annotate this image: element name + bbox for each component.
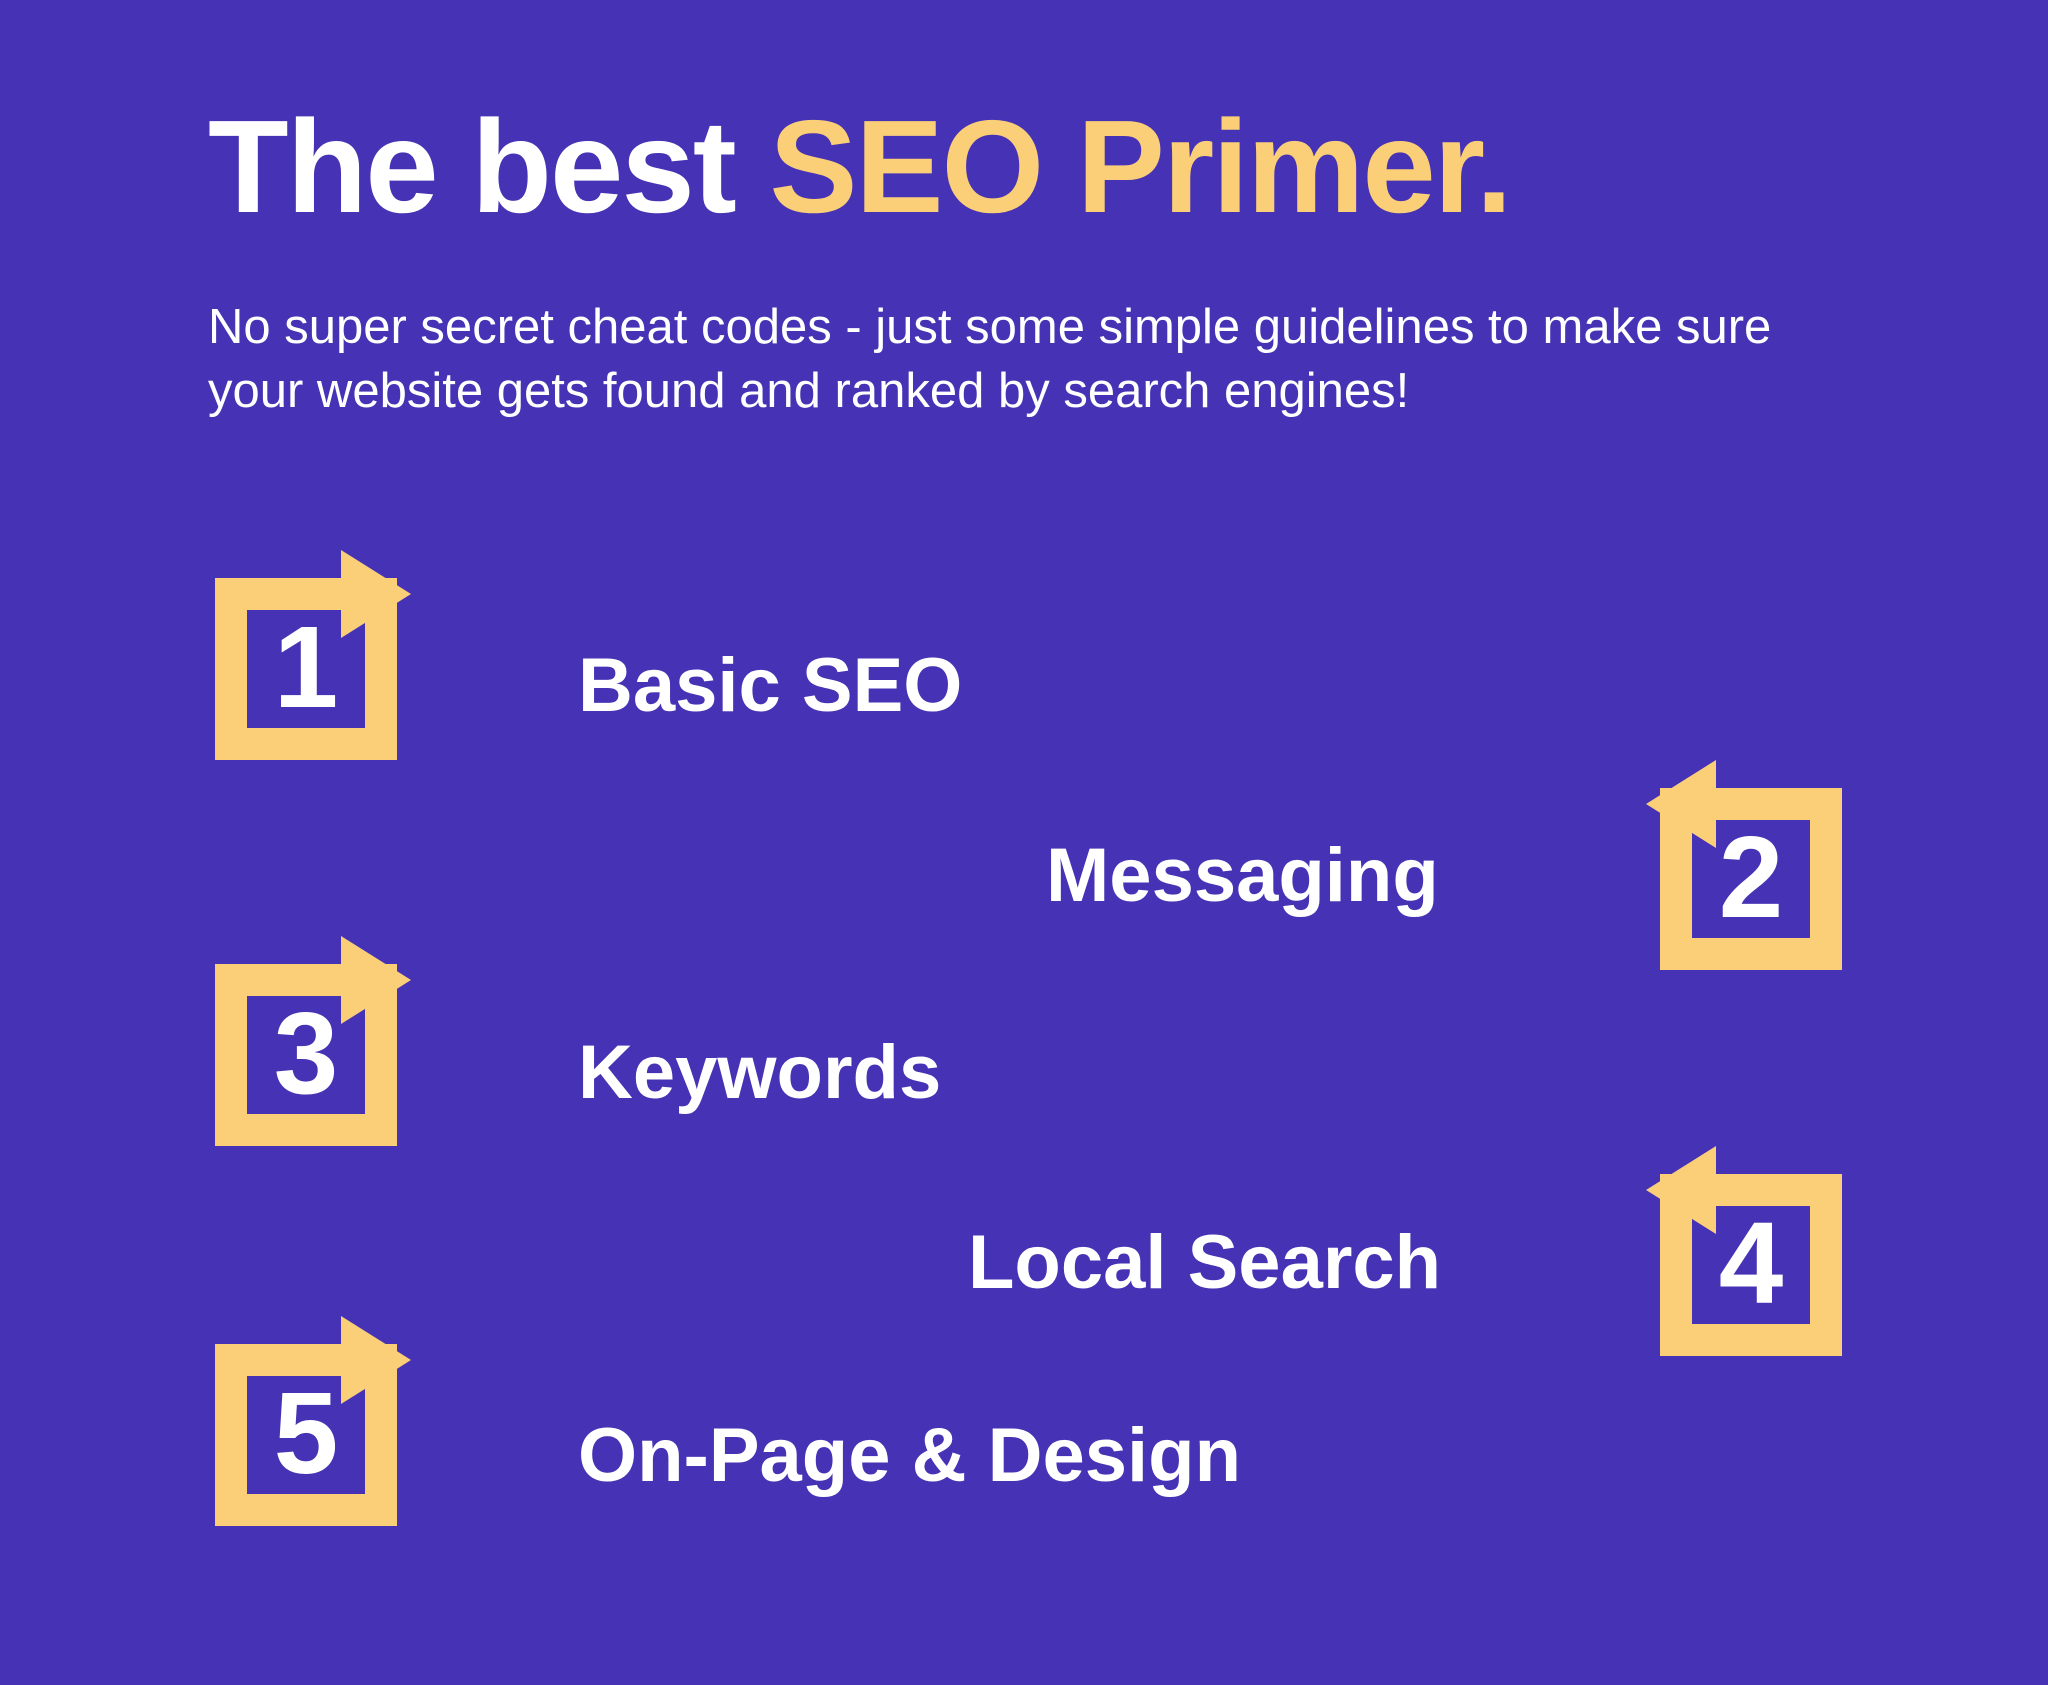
step-number: 2 [1660, 788, 1842, 970]
page-subtitle: No super secret cheat codes - just some … [208, 239, 1838, 424]
page-title-accent: SEO Primer. [769, 93, 1510, 240]
step-number: 5 [215, 1344, 397, 1526]
step-label-3: Keywords [578, 1035, 941, 1111]
page-title: The best SEO Primer. [208, 96, 1908, 239]
step-badge-5: 5 [215, 1288, 437, 1526]
step-badge-3: 3 [215, 908, 437, 1146]
step-label-2: Messaging [1046, 838, 1439, 914]
step-number: 3 [215, 964, 397, 1146]
step-label-1: Basic SEO [578, 648, 962, 724]
step-badge-2: 2 [1620, 732, 1842, 970]
step-label-5: On-Page & Design [578, 1418, 1241, 1494]
seo-primer-infographic: The best SEO Primer. No super secret che… [0, 0, 2048, 1685]
step-number: 1 [215, 578, 397, 760]
page-title-plain: The best [208, 93, 769, 240]
step-badge-4: 4 [1620, 1118, 1842, 1356]
step-label-4: Local Search [968, 1225, 1441, 1301]
step-number: 4 [1660, 1174, 1842, 1356]
header: The best SEO Primer. No super secret che… [208, 96, 1908, 424]
step-badge-1: 1 [215, 522, 437, 760]
